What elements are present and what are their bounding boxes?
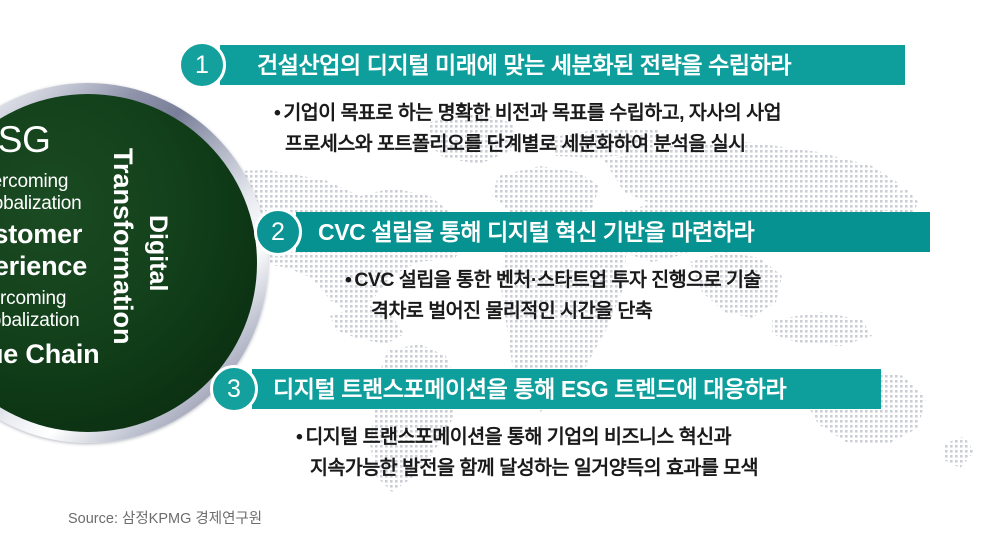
sphere-label-deglobalization-2: Deglobalization	[0, 310, 124, 332]
sphere-title-esg: ESG	[0, 119, 102, 161]
step-number-2: 2	[254, 208, 302, 256]
sphere-label-overcoming-1: Overcoming	[0, 171, 120, 193]
step-number-3: 3	[210, 365, 258, 413]
heading-text-1: 건설산업의 디지털 미래에 맞는 세분화된 전략을 수립하라	[257, 45, 791, 85]
body-text-3: •디지털 트랜스포메이션을 통해 기업의 비즈니스 혁신과 지속가능한 발전을 …	[296, 422, 758, 484]
sphere-label-experience: Experience	[0, 251, 124, 282]
sphere-label-deglobalization-1: Deglobalization	[0, 193, 120, 215]
sphere-label-overcoming-2: Overcoming	[0, 288, 122, 310]
step-number-1: 1	[178, 41, 226, 89]
sphere-label-transformation: Transformation	[107, 148, 138, 345]
source-note: Source: 삼정KPMG 경제연구원	[68, 507, 262, 528]
body-line-2b: 격차로 벌어진 물리적인 시간을 단축	[371, 296, 761, 327]
bullet-icon-2: •	[345, 269, 351, 291]
bullet-icon-1: •	[274, 102, 280, 124]
bullet-icon-3: •	[296, 426, 302, 448]
sphere-label-digital: Digital	[143, 215, 172, 291]
body-line-1b: 프로세스와 포트폴리오를 단계별로 세분화하여 분석을 실시	[285, 129, 781, 160]
body-text-2: •CVC 설립을 통한 벤처·스타트업 투자 진행으로 기술 격차로 벌어진 물…	[345, 265, 761, 327]
body-line-3a: 디지털 트랜스포메이션을 통해 기업의 비즈니스 혁신과	[305, 426, 731, 448]
body-text-1: •기업이 목표로 하는 명확한 비전과 목표를 수립하고, 자사의 사업 프로세…	[274, 98, 781, 160]
body-line-2a: CVC 설립을 통한 벤처·스타트업 투자 진행으로 기술	[354, 269, 761, 291]
body-line-1a: 기업이 목표로 하는 명확한 비전과 목표를 수립하고, 자사의 사업	[283, 102, 781, 124]
body-line-3b: 지속가능한 발전을 함께 달성하는 일거양득의 효과를 모색	[310, 453, 758, 484]
heading-text-2: CVC 설립을 통해 디지털 혁신 기반을 마련하라	[318, 212, 754, 252]
heading-text-3: 디지털 트랜스포메이션을 통해 ESG 트렌드에 대응하라	[273, 369, 786, 409]
